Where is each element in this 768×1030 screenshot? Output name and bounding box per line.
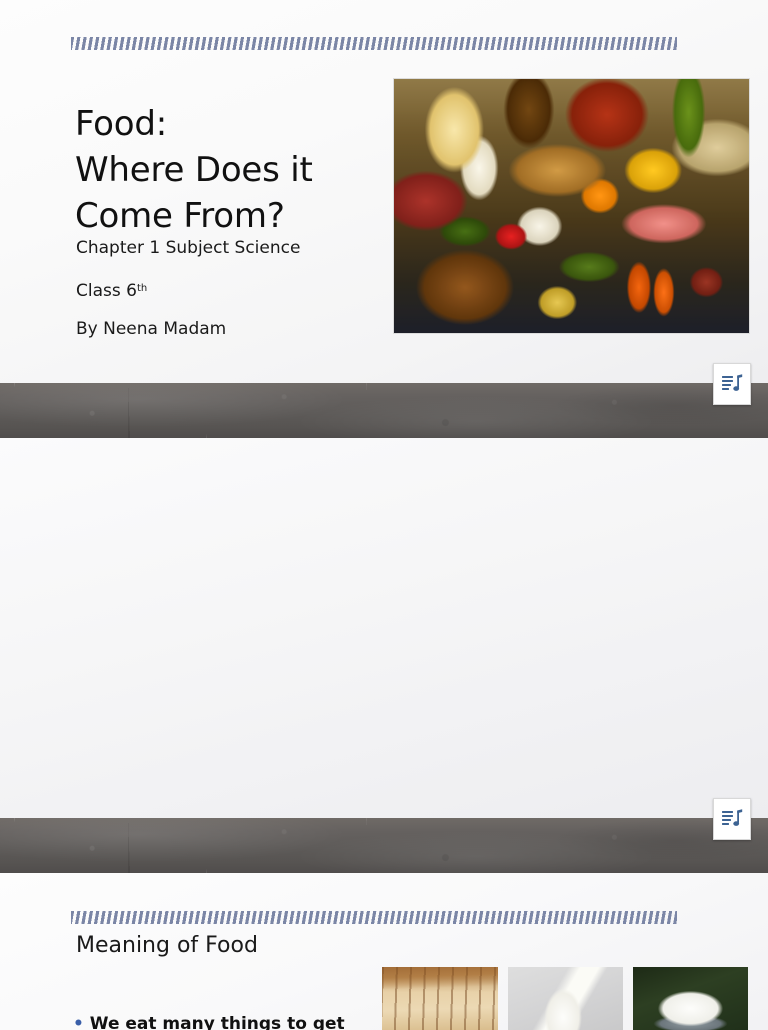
- slide-3-content: Meaning of Food • We eat many things to …: [0, 873, 768, 1030]
- presentation-document: Food: Where Does it Come From? Chapter 1…: [0, 0, 768, 1030]
- bowl-of-rice-photo: [633, 967, 748, 1030]
- decorative-tick-rule: [71, 37, 677, 50]
- decorative-tick-rule: [71, 911, 677, 924]
- subtitle-class: Class 6th: [76, 279, 396, 301]
- subtitle-author: By Neena Madam: [76, 319, 396, 339]
- slide-2-footer-band: [0, 818, 768, 873]
- slide-1-content: Food: Where Does it Come From? Chapter 1…: [0, 0, 768, 383]
- slide-title: Food: Where Does it Come From? Chapter 1…: [0, 0, 768, 438]
- slide-meaning-of-food: Meaning of Food • We eat many things to …: [0, 873, 768, 1030]
- subtitle-chapter: Chapter 1 Subject Science: [76, 238, 396, 258]
- sliced-bread-photo: [382, 967, 498, 1030]
- page-title: Food: Where Does it Come From?: [75, 101, 395, 239]
- title-line-2: Where Does it: [75, 150, 313, 190]
- section-heading: Meaning of Food: [76, 933, 258, 958]
- food-spread-photo-image: [394, 79, 749, 333]
- subtitle-class-ordinal: th: [137, 283, 147, 294]
- slide-1-footer-band: [0, 383, 768, 438]
- bullet-dot-icon: •: [73, 1014, 84, 1030]
- milk-pouring-photo: [508, 967, 623, 1030]
- title-line-3: Come From?: [75, 196, 285, 236]
- slide-2-content: What We Will Learn Today Meaning of Food…: [0, 438, 768, 818]
- bullet-item: • We eat many things to get: [73, 1014, 345, 1030]
- bullet-text: We eat many things to get: [90, 1014, 345, 1030]
- audio-clip-icon[interactable]: [713, 798, 751, 840]
- audio-clip-icon[interactable]: [713, 363, 751, 405]
- food-spread-photo: [393, 78, 750, 334]
- subtitle-class-text: Class 6: [76, 281, 137, 301]
- slide-agenda: What We Will Learn Today Meaning of Food…: [0, 438, 768, 873]
- title-line-1: Food:: [75, 104, 167, 144]
